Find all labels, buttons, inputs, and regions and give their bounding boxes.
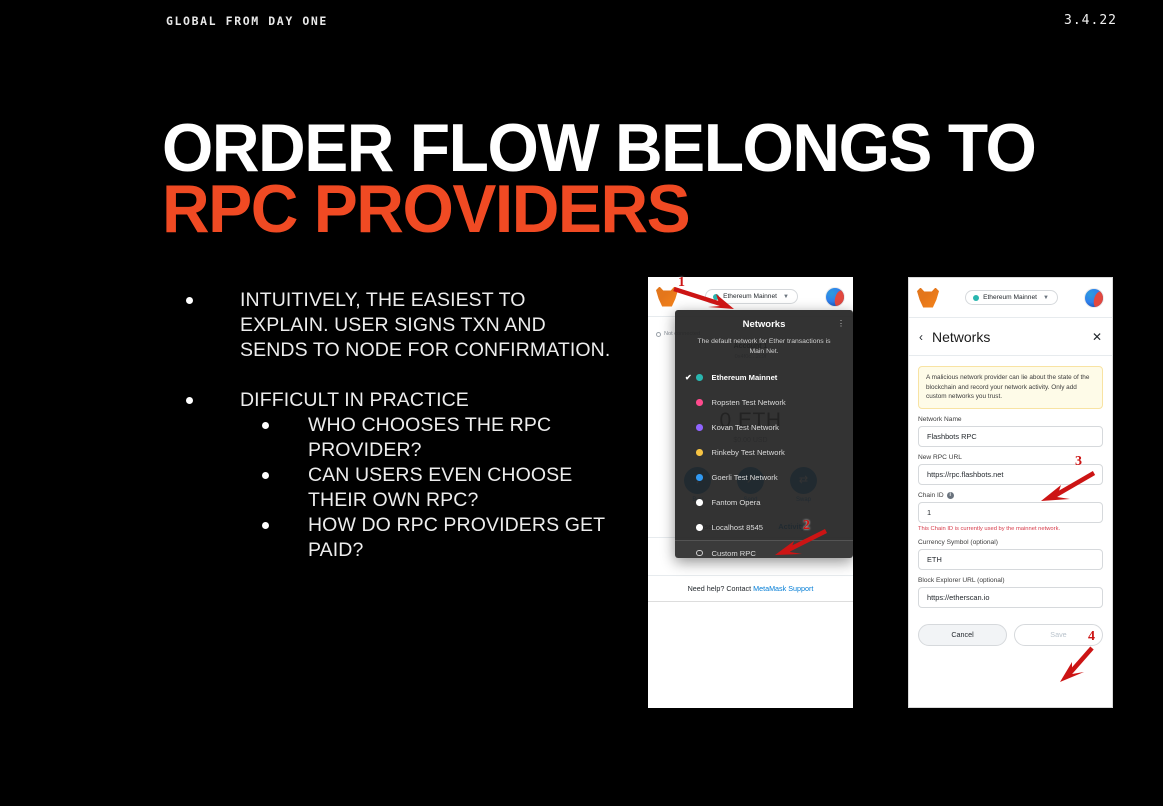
networks-dropdown-title: Networks	[675, 310, 853, 333]
annotation-number-1: 1	[678, 275, 685, 291]
title-line-1: ORDER FLOW BELONGS TO	[162, 118, 1035, 179]
bullet-text: DIFFICULT IN PRACTICE	[240, 388, 616, 413]
form-actions: Cancel Save	[909, 614, 1112, 646]
network-list-item[interactable]: Fantom Opera	[675, 490, 853, 515]
slide: GLOBAL FROM DAY ONE 3.4.22 ORDER FLOW BE…	[0, 0, 1163, 806]
check-icon: ✔	[685, 373, 696, 382]
network-list-item[interactable]: Ropsten Test Network	[675, 390, 853, 415]
block-explorer-url-input[interactable]: https://etherscan.io	[918, 587, 1103, 608]
network-list-item[interactable]: Rinkeby Test Network	[675, 440, 853, 465]
field-currency-symbol: Currency Symbol (optional) ETH	[909, 532, 1112, 570]
bullet-dot-icon	[262, 522, 269, 529]
kebab-menu-icon[interactable]: ⋮	[837, 321, 845, 327]
bullet-dot-icon	[186, 397, 193, 404]
chain-id-error-message: This Chain ID is currently used by the m…	[909, 523, 1112, 532]
sub-bullet-text: CAN USERS EVEN CHOOSE THEIR OWN RPC?	[308, 463, 616, 513]
support-footer: Need help? Contact MetaMask Support	[648, 575, 853, 601]
cancel-button[interactable]: Cancel	[918, 624, 1007, 646]
metamask-topbar: Ethereum Mainnet ▼	[909, 278, 1112, 318]
network-color-dot-icon	[696, 424, 703, 431]
chevron-left-icon[interactable]: ‹	[919, 330, 923, 344]
network-list-item[interactable]: Kovan Test Network	[675, 415, 853, 440]
annotation-arrow-4	[1052, 645, 1098, 685]
network-list-item-label: Ropsten Test Network	[712, 398, 786, 407]
sub-bullet-text: HOW DO RPC PROVIDERS GET PAID?	[308, 513, 616, 563]
annotation-arrow-3	[1036, 470, 1098, 504]
chain-id-input[interactable]: 1	[918, 502, 1103, 523]
metamask-support-link[interactable]: MetaMask Support	[753, 584, 813, 593]
bullet-dot-icon	[262, 422, 269, 429]
annotation-number-3: 3	[1075, 454, 1082, 470]
account-avatar[interactable]	[1084, 288, 1104, 308]
network-color-dot-icon	[696, 374, 703, 381]
network-list-item[interactable]: Goerli Test Network	[675, 465, 853, 490]
sub-bullet-text: WHO CHOOSES THE RPC PROVIDER?	[308, 413, 616, 463]
sub-bullet-item: WHO CHOOSES THE RPC PROVIDER?	[186, 413, 616, 463]
annotation-number-4: 4	[1088, 629, 1095, 645]
chevron-down-icon: ▼	[783, 294, 789, 300]
page-title: ORDER FLOW BELONGS TO RPC PROVIDERS	[162, 118, 1035, 240]
networks-page-title: Networks	[932, 329, 1092, 345]
network-selector-label: Ethereum Mainnet	[983, 294, 1037, 301]
bullet-item: DIFFICULT IN PRACTICE	[186, 388, 616, 413]
network-color-dot-icon	[696, 550, 703, 557]
network-color-dot-icon	[696, 474, 703, 481]
network-color-dot-icon	[696, 499, 703, 506]
malicious-network-warning: A malicious network provider can lie abo…	[918, 366, 1103, 409]
metamask-fox-logo-icon	[917, 288, 939, 308]
bullet-dot-icon	[262, 472, 269, 479]
network-color-dot-icon	[696, 524, 703, 531]
network-selector-button[interactable]: Ethereum Mainnet ▼	[965, 290, 1058, 305]
network-list-item-label: Localhost 8545	[712, 523, 764, 532]
metamask-networks-dropdown-screenshot: Ethereum Mainnet ▼ Not connected Account…	[648, 277, 853, 708]
networks-dropdown: Networks ⋮ The default network for Ether…	[675, 310, 853, 558]
field-label: Currency Symbol (optional)	[918, 539, 1103, 546]
network-list-item-label: Goerli Test Network	[712, 473, 778, 482]
bullet-item: INTUITIVELY, THE EASIEST TO EXPLAIN. USE…	[186, 288, 616, 363]
network-list-item-label: Ethereum Mainnet	[712, 373, 778, 382]
field-block-explorer-url: Block Explorer URL (optional) https://et…	[909, 570, 1112, 608]
networks-page-header: ‹ Networks ✕	[909, 318, 1112, 356]
annotation-number-2: 2	[803, 518, 810, 534]
support-footer-text: Need help? Contact	[688, 584, 754, 593]
network-list-item-label: Fantom Opera	[712, 498, 761, 507]
field-label: Network Name	[918, 416, 1103, 423]
slide-date: 3.4.22	[1064, 13, 1117, 28]
currency-symbol-input[interactable]: ETH	[918, 549, 1103, 570]
network-list-item[interactable]: ✔Ethereum Mainnet	[675, 365, 853, 390]
bullet-dot-icon	[186, 297, 193, 304]
bullet-text: INTUITIVELY, THE EASIEST TO EXPLAIN. USE…	[240, 288, 616, 363]
chain-id-label: Chain ID	[918, 492, 944, 499]
info-icon[interactable]: i	[947, 492, 954, 499]
network-color-dot-icon	[696, 449, 703, 456]
chevron-down-icon: ▼	[1043, 295, 1049, 301]
sub-bullet-item: HOW DO RPC PROVIDERS GET PAID?	[186, 513, 616, 563]
close-icon[interactable]: ✕	[1092, 330, 1102, 344]
account-avatar[interactable]	[825, 287, 845, 307]
slide-header-label: GLOBAL FROM DAY ONE	[166, 14, 328, 28]
network-status-dot-icon	[973, 295, 979, 301]
title-line-2: RPC PROVIDERS	[162, 179, 1035, 240]
not-connected-icon	[656, 332, 661, 337]
network-list-item-label: Custom RPC	[712, 549, 756, 558]
bullet-list: INTUITIVELY, THE EASIEST TO EXPLAIN. USE…	[186, 288, 616, 563]
networks-dropdown-subtitle: The default network for Ether transactio…	[675, 333, 853, 365]
panel-blank-area	[648, 601, 853, 708]
network-list-item-label: Kovan Test Network	[712, 423, 779, 432]
annotation-arrow-2	[772, 528, 830, 560]
field-label: Block Explorer URL (optional)	[918, 577, 1103, 584]
field-network-name: Network Name Flashbots RPC	[909, 409, 1112, 447]
network-name-input[interactable]: Flashbots RPC	[918, 426, 1103, 447]
network-list-item-label: Rinkeby Test Network	[712, 448, 785, 457]
sub-bullet-item: CAN USERS EVEN CHOOSE THEIR OWN RPC?	[186, 463, 616, 513]
network-color-dot-icon	[696, 399, 703, 406]
